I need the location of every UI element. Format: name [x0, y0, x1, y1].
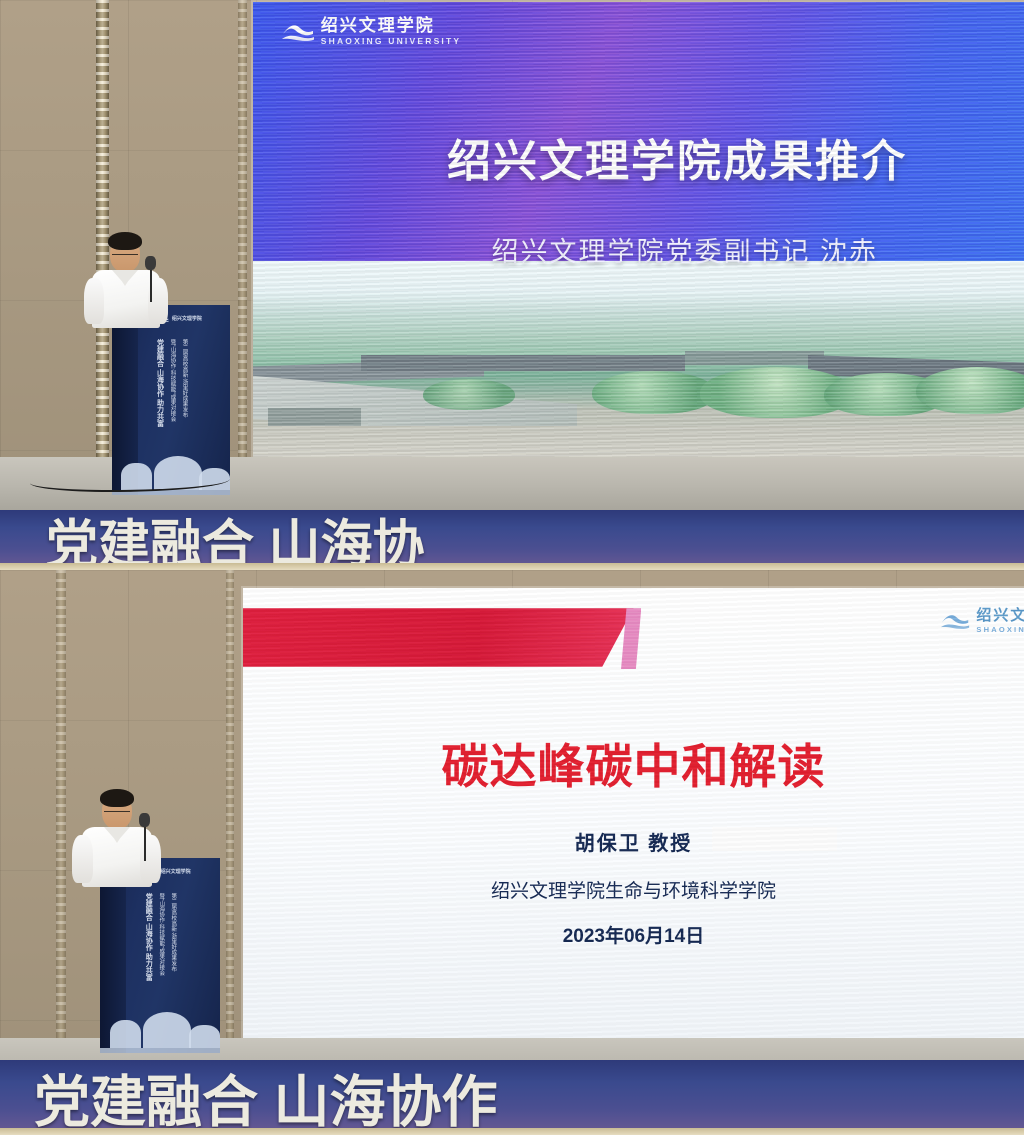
speaker-bottom: [68, 785, 188, 880]
slide-affiliation: 绍兴文理学院生命与环境科学学院: [243, 876, 1024, 903]
university-mountain-icon: [281, 22, 315, 42]
slide-lecture: 绍兴文 SHAOXING 碳达峰碳中和解读 胡保卫 教授 绍兴文理学院生命与环境…: [243, 588, 1024, 1038]
led-screen-bottom: 绍兴文 SHAOXING 碳达峰碳中和解读 胡保卫 教授 绍兴文理学院生命与环境…: [243, 588, 1024, 1038]
slide-subtitle-top: 绍兴文理学院党委副书记 沈赤: [253, 230, 1024, 269]
slide-logo-top: 绍兴文理学院 SHAOXING UNIVERSITY: [281, 17, 462, 46]
podium-bottom: 绍兴文理学院 第二届高校高新·浙里好成果发布 暨"山海协作·科技赋能"成果对接会…: [100, 858, 220, 1053]
photo-top: 绍兴文理学院 SHAOXING UNIVERSITY 绍兴文理学院成果推介 绍兴…: [0, 0, 1024, 570]
microphone-head: [145, 256, 156, 270]
wall-gold-strip-b2: [226, 570, 234, 1060]
stage-banner-bottom: 党建融合 山海协作: [0, 1060, 1024, 1135]
stage-banner-text-top: 党建融合 山海协: [0, 510, 1024, 570]
speaker-arm-left-2: [72, 835, 93, 883]
stage-banner-chars-top: 党建融合 山海协: [46, 510, 424, 570]
slide-logo-en-2: SHAOXING: [976, 626, 1024, 634]
speaker-hair-2: [100, 789, 134, 807]
photo-bottom: 绍兴文 SHAOXING 碳达峰碳中和解读 胡保卫 教授 绍兴文理学院生命与环境…: [0, 570, 1024, 1135]
stage-banner-chars-bottom: 党建融合 山海协作: [34, 1060, 498, 1135]
podium-top: 绍兴文理学院 第二届高校高新·浙里好成果发布 暨"山海协作·科技赋能"成果对接会…: [112, 305, 230, 495]
speaker-glasses: [112, 250, 138, 255]
slide-presenter: 胡保卫 教授: [243, 827, 1024, 856]
slide-redaction-block: [712, 827, 837, 852]
screenshot-root: 绍兴文理学院 SHAOXING UNIVERSITY 绍兴文理学院成果推介 绍兴…: [0, 0, 1024, 1135]
slide-title-top: 绍兴文理学院成果推介: [253, 125, 1024, 189]
slide-logo-cn: 绍兴文理学院: [321, 17, 462, 34]
slide-logo-cn-2: 绍兴文: [976, 608, 1024, 623]
microphone-head-2: [139, 813, 150, 827]
campus-photo: [253, 261, 1024, 457]
speaker-glasses-2: [104, 807, 130, 812]
slide-logo-en: SHAOXING UNIVERSITY: [321, 37, 462, 46]
podium-graphic-2: [100, 975, 220, 1053]
speaker-arm-left: [84, 278, 104, 324]
slide-date: 2023年06月14日: [243, 921, 1024, 948]
podium-logo-cn: 绍兴文理学院: [172, 315, 202, 322]
red-diagonal-band: [243, 608, 634, 667]
speaker-top: [78, 226, 196, 316]
slide-opening: 绍兴文理学院 SHAOXING UNIVERSITY 绍兴文理学院成果推介 绍兴…: [253, 2, 1024, 457]
wall-gold-strip-b1: [56, 570, 66, 1060]
university-mountain-icon-2: [940, 612, 970, 630]
slide-logo-bottom: 绍兴文 SHAOXING: [940, 608, 1024, 634]
stage-banner-top: 党建融合 山海协: [0, 510, 1024, 570]
stage-banner-text-bottom: 党建融合 山海协作: [0, 1060, 1024, 1135]
led-screen-top: 绍兴文理学院 SHAOXING UNIVERSITY 绍兴文理学院成果推介 绍兴…: [253, 2, 1024, 457]
speaker-hair: [108, 232, 142, 250]
wall-gold-strip-2: [238, 0, 247, 470]
slide-title-bottom: 碳达峰碳中和解读: [243, 728, 1024, 797]
